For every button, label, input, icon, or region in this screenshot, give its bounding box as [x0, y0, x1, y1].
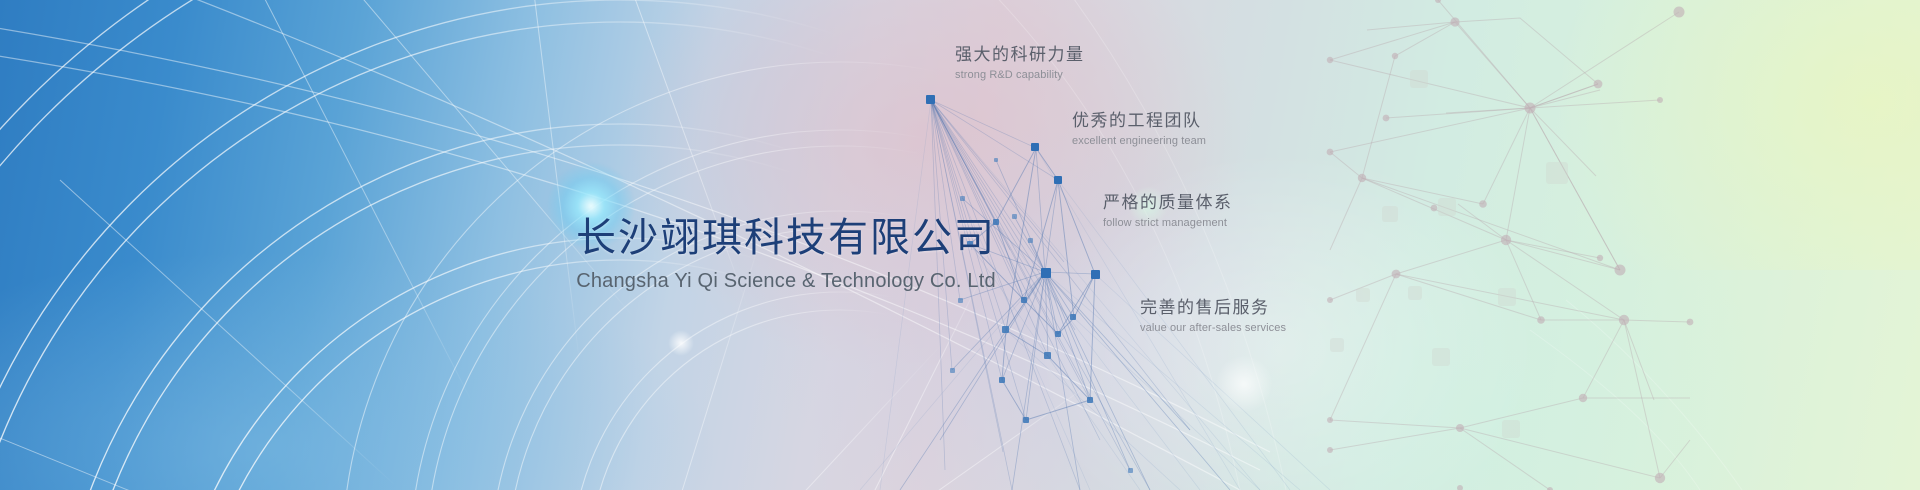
feature-label-cn: 完善的售后服务 — [1140, 297, 1286, 319]
blue-wash — [0, 250, 720, 490]
feature-label-en: excellent engineering team — [1072, 134, 1206, 149]
white-wash — [1020, 150, 1540, 490]
light-glow-accent — [548, 163, 634, 249]
small-glow-accent-mid — [1128, 186, 1168, 226]
small-glow-accent-right — [1216, 356, 1272, 412]
feature-callout-team: 优秀的工程团队 excellent engineering team — [1072, 110, 1206, 149]
feature-callout-service: 完善的售后服务 value our after-sales services — [1140, 297, 1286, 336]
company-name-chinese: 长沙翊琪科技有限公司 — [576, 214, 996, 262]
feature-callout-rd: 强大的科研力量 strong R&D capability — [955, 44, 1085, 83]
right-node-mesh-decoration — [0, 0, 1920, 490]
feature-label-cn: 强大的科研力量 — [955, 44, 1085, 66]
radar-arc-decoration — [0, 0, 1920, 490]
feature-callout-quality: 严格的质量体系 follow strict management — [1103, 192, 1233, 231]
pink-wash — [620, 0, 1240, 370]
yellow-wash — [1560, 0, 1920, 270]
small-glow-accent-left — [668, 330, 694, 356]
feature-label-en: follow strict management — [1103, 216, 1233, 231]
blue-node-graph-decoration — [0, 0, 1920, 490]
feature-label-cn: 严格的质量体系 — [1103, 192, 1233, 214]
company-title-block: 长沙翊琪科技有限公司 Changsha Yi Qi Science & Tech… — [576, 214, 996, 293]
company-name-english: Changsha Yi Qi Science & Technology Co. … — [576, 269, 996, 293]
mint-wash — [1180, 200, 1780, 490]
feature-label-cn: 优秀的工程团队 — [1072, 110, 1206, 132]
hero-banner: 长沙翊琪科技有限公司 Changsha Yi Qi Science & Tech… — [0, 0, 1920, 490]
lavender-wash — [760, 120, 1320, 490]
feature-label-en: value our after-sales services — [1140, 321, 1286, 336]
feature-label-en: strong R&D capability — [955, 68, 1085, 83]
